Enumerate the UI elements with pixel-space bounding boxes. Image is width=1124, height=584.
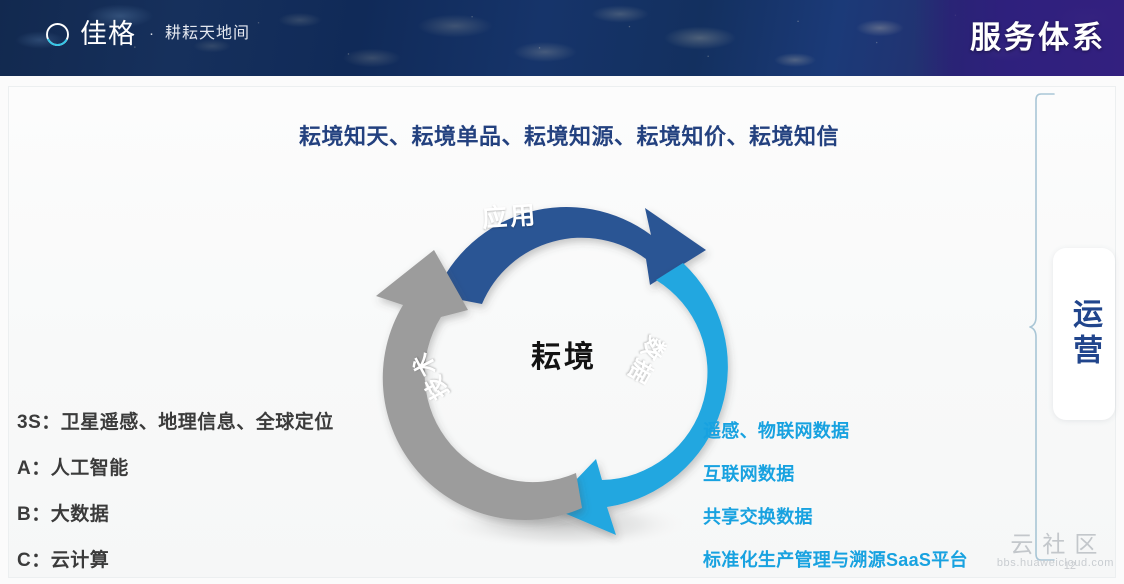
header-banner: 佳格 · 耕耘天地间 服务体系 <box>0 0 1124 76</box>
operation-badge-label: 运营 <box>1069 298 1099 370</box>
list-item: 3S：卫星遥感、地理信息、全球定位 <box>17 407 437 434</box>
operation-badge[interactable]: 运营 <box>1053 248 1115 420</box>
cycle-core-label: 耘境 <box>364 332 764 376</box>
cycle-arrow-label-application: 应用 <box>481 195 539 235</box>
brand-logo[interactable]: 佳格 · 耕耘天地间 <box>44 14 250 54</box>
slide-root: 佳格 · 耕耘天地间 服务体系 耘境知天、耘境单品、耘境知源、耘境知价、耘境知信 <box>0 0 1124 584</box>
list-item: C：云计算 <box>17 545 437 572</box>
headline-text: 耘境知天、耘境单品、耘境知源、耘境知价、耘境知信 <box>269 119 869 151</box>
technology-list: 3S：卫星遥感、地理信息、全球定位 A：人工智能 B：大数据 C：云计算 <box>17 407 437 578</box>
list-item: 互联网数据 <box>703 460 1073 486</box>
list-item: 标准化生产管理与溯源SaaS平台 <box>703 546 1073 572</box>
page-title: 服务体系 <box>970 16 1106 60</box>
brand-name: 佳格 <box>80 19 136 49</box>
cycle-arrow-application <box>435 207 706 304</box>
list-item: 共享交换数据 <box>703 503 1073 529</box>
circle-ring-logo-icon <box>44 21 71 48</box>
brand-separator: · <box>149 19 154 49</box>
data-source-list: 遥感、物联网数据 互联网数据 共享交换数据 标准化生产管理与溯源SaaS平台 <box>703 417 1073 572</box>
brand-slogan: 耕耘天地间 <box>165 19 250 49</box>
list-item: A：人工智能 <box>17 453 437 480</box>
list-item: 遥感、物联网数据 <box>703 417 1073 443</box>
list-item: B：大数据 <box>17 499 437 526</box>
slide-canvas: 耘境知天、耘境单品、耘境知源、耘境知价、耘境知信 <box>8 86 1116 578</box>
